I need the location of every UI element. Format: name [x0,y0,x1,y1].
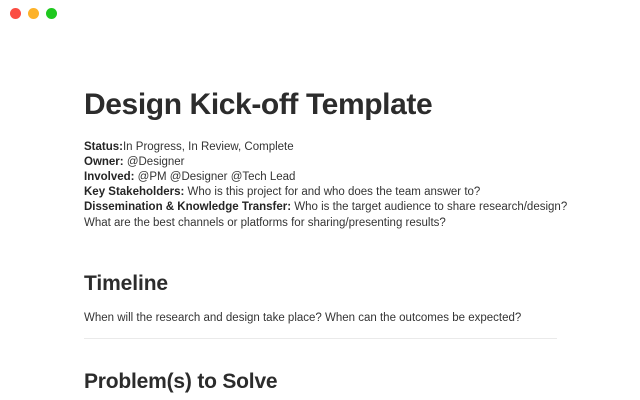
metadata-value-dissemination: Who is the target audience to share rese… [291,201,567,213]
section-body-timeline[interactable]: When will the research and design take p… [84,296,556,326]
metadata-value-owner: @Designer [124,156,185,168]
document-canvas[interactable]: Design Kick-off Template Status:In Progr… [0,27,640,400]
metadata-value-channels: What are the best channels or platforms … [84,217,446,229]
window-titlebar [0,0,640,27]
metadata-row-key-stakeholders[interactable]: Key Stakeholders: Who is this project fo… [84,185,556,200]
metadata-row-dissemination[interactable]: Dissemination & Knowledge Transfer: Who … [84,200,556,215]
metadata-block: Status:In Progress, In Review, Complete … [84,122,556,231]
metadata-label-key-stakeholders: Key Stakeholders: [84,186,184,198]
metadata-row-channels[interactable]: What are the best channels or platforms … [84,216,556,231]
maximize-window-button[interactable] [46,8,57,19]
metadata-value-involved: @PM @Designer @Tech Lead [134,171,295,183]
app-window: Design Kick-off Template Status:In Progr… [0,0,640,400]
section-heading-problems-to-solve[interactable]: Problem(s) to Solve [84,339,556,394]
minimize-window-button[interactable] [28,8,39,19]
traffic-light-group [10,8,57,19]
metadata-value-key-stakeholders: Who is this project for and who does the… [184,186,480,198]
metadata-row-status[interactable]: Status:In Progress, In Review, Complete [84,140,556,155]
section-heading-timeline[interactable]: Timeline [84,231,556,296]
metadata-row-owner[interactable]: Owner: @Designer [84,155,556,170]
close-window-button[interactable] [10,8,21,19]
page-title[interactable]: Design Kick-off Template [84,27,556,122]
metadata-label-involved: Involved: [84,171,134,183]
metadata-label-status: Status: [84,141,123,153]
metadata-row-involved[interactable]: Involved: @PM @Designer @Tech Lead [84,170,556,185]
metadata-label-owner: Owner: [84,156,124,168]
metadata-label-dissemination: Dissemination & Knowledge Transfer: [84,201,291,213]
metadata-value-status: In Progress, In Review, Complete [123,141,294,153]
